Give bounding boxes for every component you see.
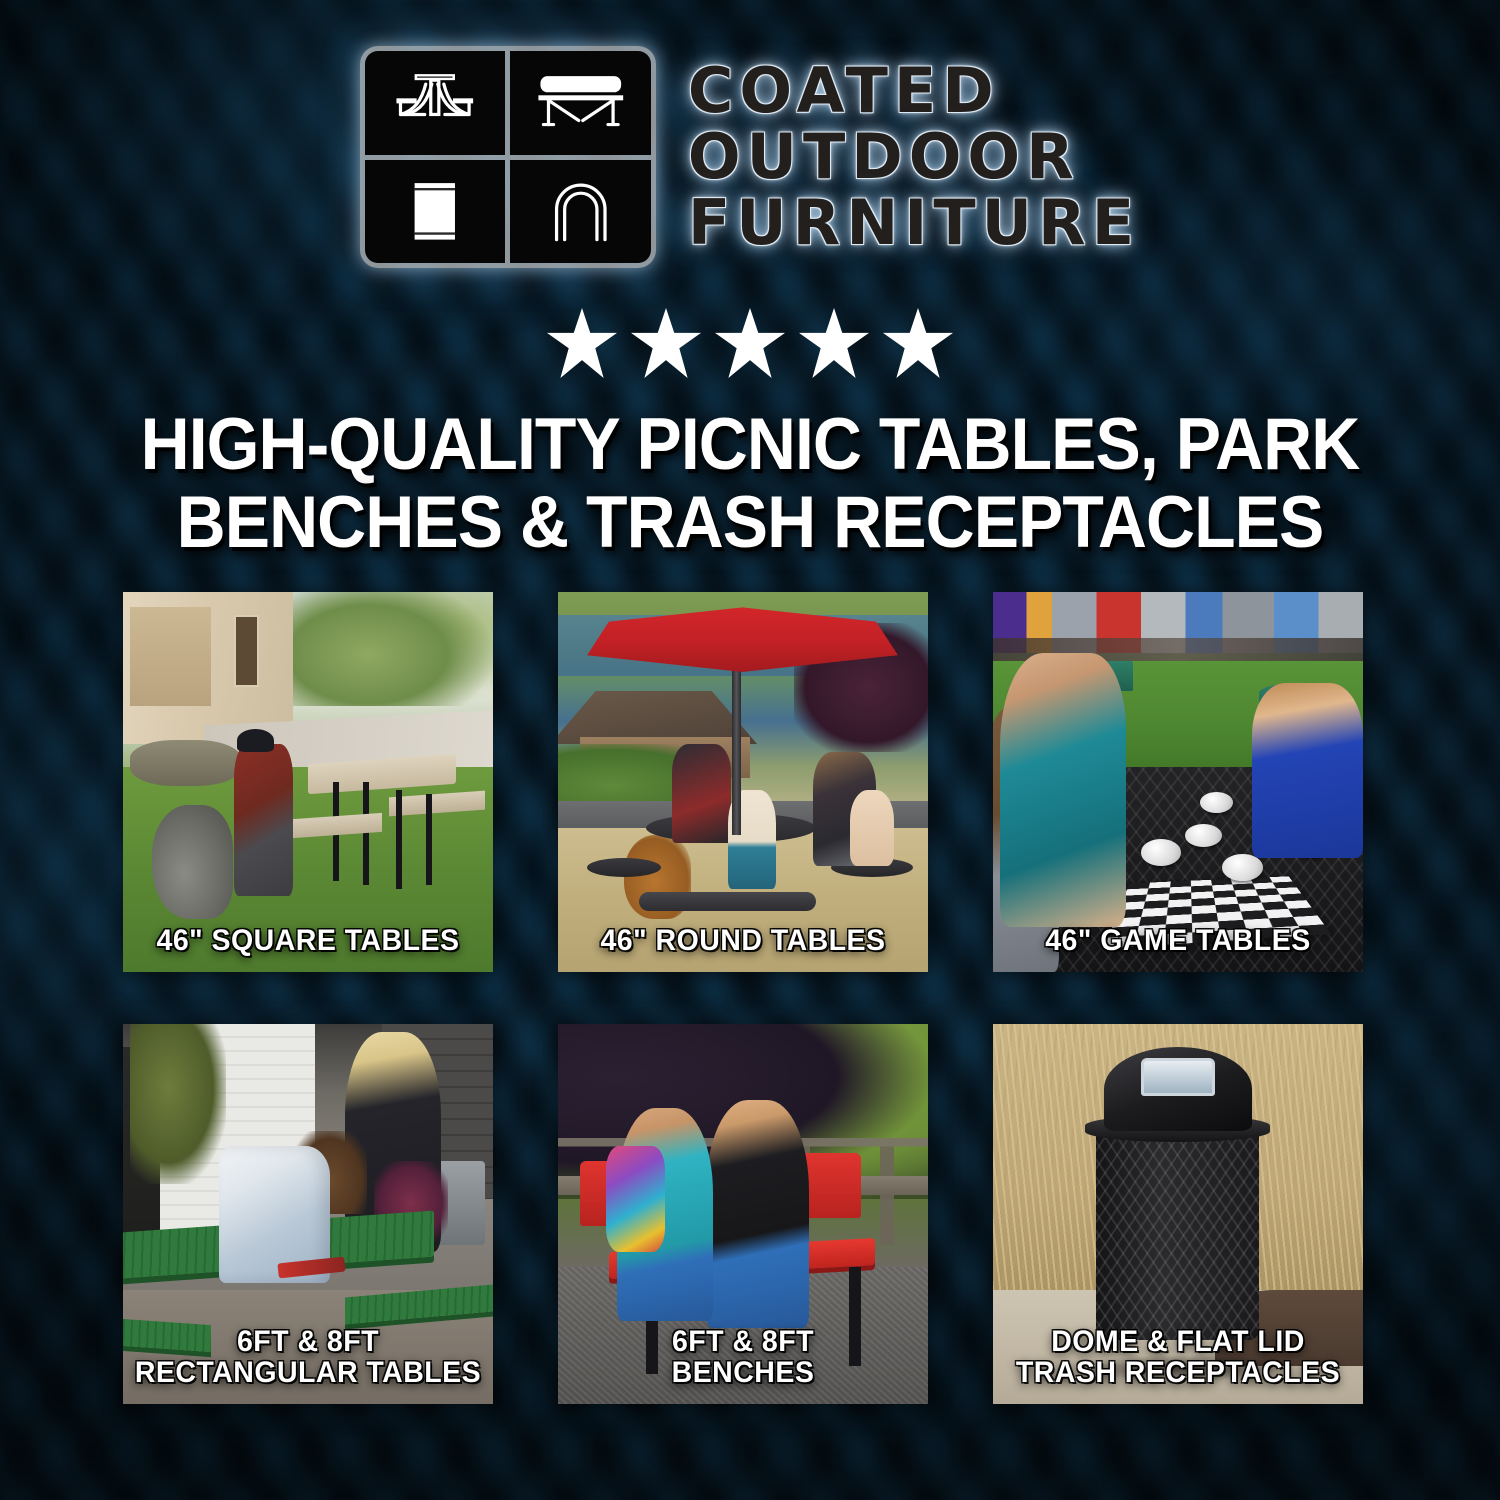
product-tile-rectangular-tables[interactable]: 6FT & 8FT RECTANGULAR TABLES (123, 1024, 493, 1404)
photo-man (672, 744, 731, 843)
tile-caption: 6FT & 8FT RECTANGULAR TABLES (132, 1327, 484, 1388)
tile-caption: 46" GAME TABLES (1002, 926, 1354, 957)
picnic-table-icon (365, 51, 506, 155)
tile-caption: 6FT & 8FT BENCHES (567, 1327, 919, 1388)
brand-line-coated: COATED (688, 59, 1140, 123)
brand-line-furniture: FURNITURE (688, 191, 1140, 255)
headline-line-1: HIGH-QUALITY PICNIC TABLES, PARK (136, 406, 1364, 484)
brand-line-outdoor: OUTDOOR (688, 125, 1140, 189)
star-icon (715, 308, 785, 378)
photo-bench-front (639, 892, 817, 911)
photo-cap (237, 729, 274, 752)
product-tile-round-tables[interactable]: 46" ROUND TABLES (558, 592, 928, 972)
tile-caption-line-1: 46" ROUND TABLES (567, 926, 919, 957)
photo-woman (1000, 653, 1126, 927)
photo-umbrella-pole (732, 653, 741, 835)
photo-lid-opening (1141, 1058, 1215, 1096)
tile-caption-line-1: 46" GAME TABLES (1002, 926, 1354, 957)
tile-caption: 46" ROUND TABLES (567, 926, 919, 957)
star-icon (799, 308, 869, 378)
star-rating (0, 302, 1500, 384)
star-icon (883, 308, 953, 378)
tile-caption-line-1: 46" SQUARE TABLES (132, 926, 484, 957)
tile-caption-line-2: BENCHES (567, 1358, 919, 1389)
photo-checker-piece (1222, 854, 1263, 881)
bench-icon (510, 51, 651, 155)
photo-dog (152, 805, 233, 919)
headline-line-2: BENCHES & TRASH RECEPTACLES (136, 484, 1364, 562)
product-photo-round-tables (558, 592, 928, 972)
page-title: HIGH-QUALITY PICNIC TABLES, PARK BENCHES… (53, 406, 1448, 562)
promo-poster: COATED OUTDOOR FURNITURE HIGH-QUALITY PI… (0, 0, 1500, 1500)
photo-trees (285, 592, 492, 706)
product-grid: 46" SQUARE TABLES (123, 592, 1378, 1404)
brand-header: COATED OUTDOOR FURNITURE (0, 0, 1500, 250)
product-tile-game-tables[interactable]: 46" GAME TABLES (993, 592, 1363, 972)
photo-garage-door (130, 607, 211, 706)
tile-caption-line-1: DOME & FLAT LID (1002, 1327, 1354, 1358)
photo-backpack (606, 1146, 665, 1252)
photo-boy (1252, 683, 1363, 858)
trash-receptacle-icon (365, 160, 506, 264)
tile-caption: DOME & FLAT LID TRASH RECEPTACLES (1002, 1327, 1354, 1388)
brand-wordmark: COATED OUTDOOR FURNITURE (688, 59, 1140, 255)
photo-table-leg (363, 782, 369, 885)
photo-boy-right (706, 1100, 810, 1328)
tile-caption: 46" SQUARE TABLES (132, 926, 484, 957)
poster-content: COATED OUTDOOR FURNITURE HIGH-QUALITY PI… (0, 0, 1500, 1500)
product-photo-game-tables (993, 592, 1363, 972)
photo-table-leg (396, 790, 402, 889)
photo-mesh-can-body (1096, 1127, 1259, 1340)
tile-caption-line-1: 6FT & 8FT (132, 1327, 484, 1358)
product-tile-square-tables[interactable]: 46" SQUARE TABLES (123, 592, 493, 972)
photo-checker-piece (1200, 792, 1233, 813)
product-photo-square-tables (123, 592, 493, 972)
star-icon (547, 308, 617, 378)
tile-caption-line-1: 6FT & 8FT (567, 1327, 919, 1358)
tile-caption-line-2: RECTANGULAR TABLES (132, 1358, 484, 1389)
photo-baby (850, 790, 894, 866)
photo-window (234, 615, 260, 687)
photo-hanging-vine (130, 1024, 226, 1184)
product-tile-benches[interactable]: 6FT & 8FT BENCHES (558, 1024, 928, 1404)
photo-checker-piece (1185, 824, 1222, 847)
photo-flower-bed (130, 740, 241, 786)
photo-table-leg (426, 794, 432, 885)
tile-caption-line-2: TRASH RECEPTACLES (1002, 1358, 1354, 1389)
product-tile-trash-receptacles[interactable]: DOME & FLAT LID TRASH RECEPTACLES (993, 1024, 1363, 1404)
bike-rack-icon (510, 160, 651, 264)
photo-checker-piece (1141, 839, 1182, 866)
brand-logo-mark (360, 46, 656, 268)
star-icon (631, 308, 701, 378)
photo-person (234, 744, 293, 896)
